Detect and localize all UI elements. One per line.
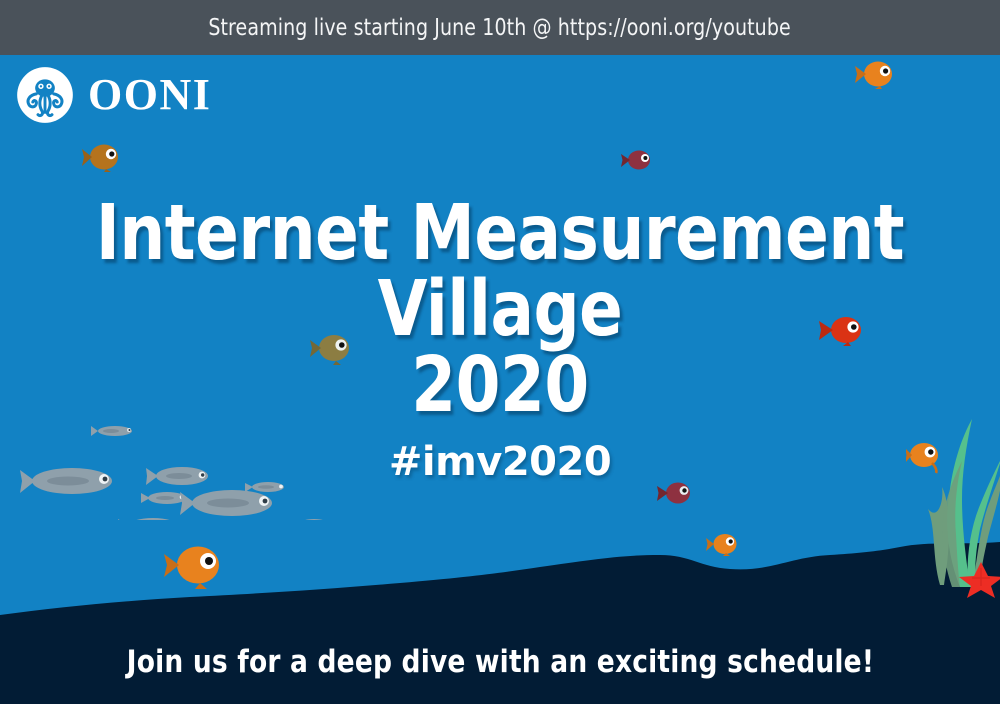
fish-darkred-mid <box>656 478 692 508</box>
streaming-banner-text: Streaming live starting June 10th @ http… <box>209 15 791 41</box>
starfish <box>958 560 1000 598</box>
sardine-school <box>20 420 340 520</box>
streaming-banner: Streaming live starting June 10th @ http… <box>0 0 1000 55</box>
ooni-logo[interactable]: OONI <box>16 66 211 124</box>
tagline-bar: Join us for a deep dive with an exciting… <box>0 620 1000 704</box>
fish-darkred-small-top <box>620 147 652 173</box>
fish-orange-small-top-right <box>854 57 894 91</box>
imv2020-poster: Streaming live starting June 10th @ http… <box>0 0 1000 704</box>
fish-orange-lower <box>706 530 740 558</box>
tagline-text: Join us for a deep dive with an exciting… <box>126 644 873 680</box>
fish-red-right <box>818 311 864 351</box>
ocean-scene <box>0 55 1000 704</box>
seafloor <box>0 55 1000 704</box>
fish-orange-large-bottom <box>164 538 228 594</box>
ooni-wordmark: OONI <box>88 73 211 117</box>
fish-orange-small-left <box>82 141 122 175</box>
ooni-octopus-icon <box>16 66 74 124</box>
fish-olive-mid <box>310 330 354 368</box>
